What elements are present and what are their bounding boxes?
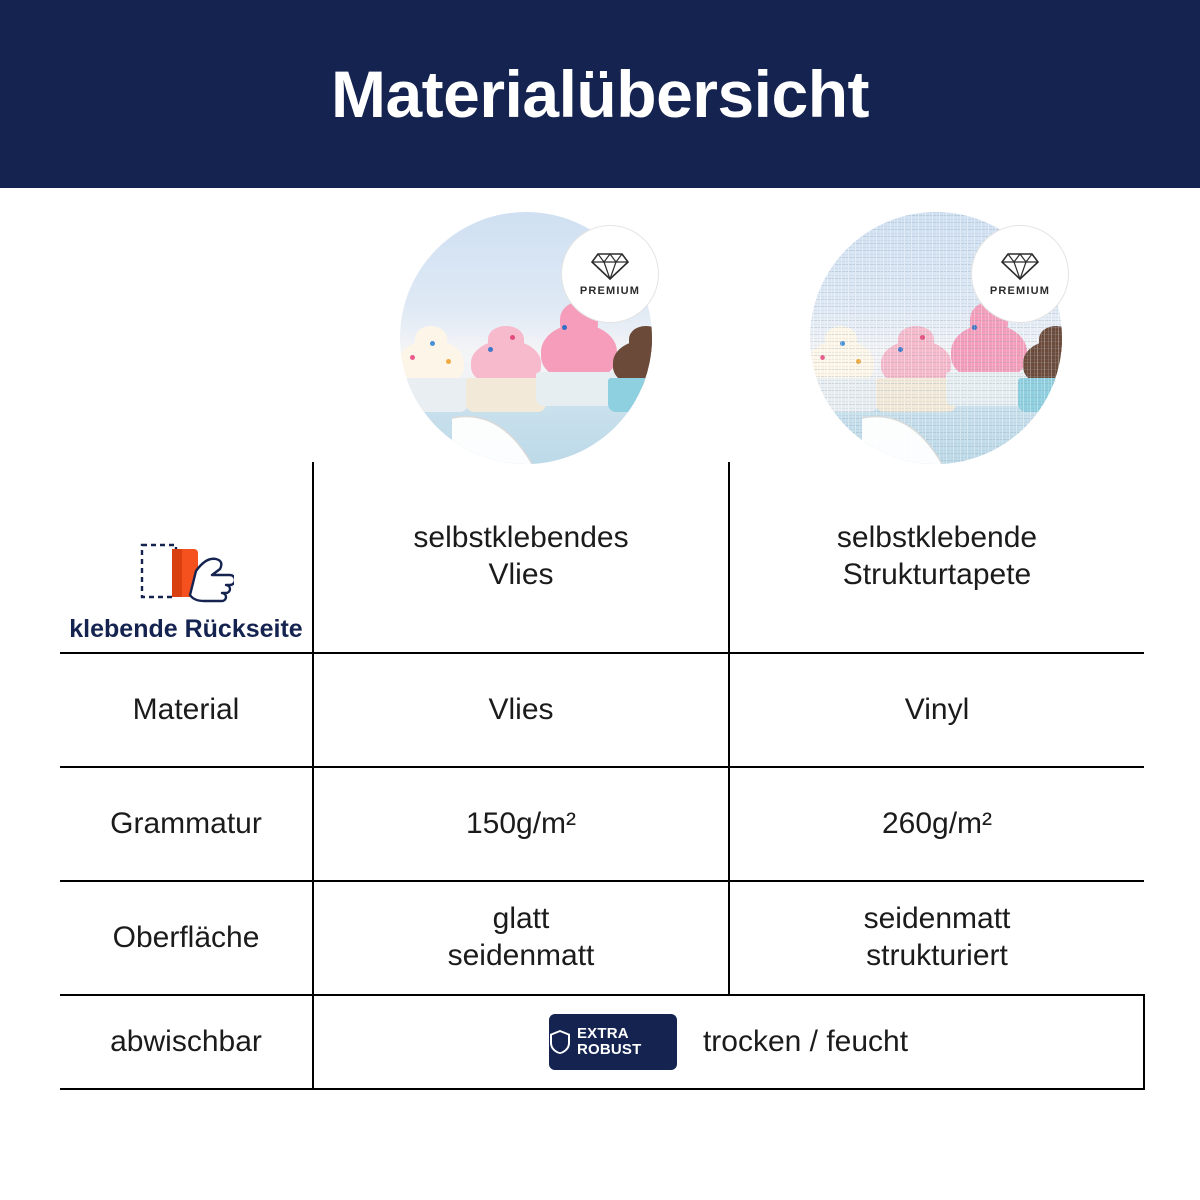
- table-row: Oberfläche glatt seidenmatt seidenmatt s…: [60, 881, 1144, 995]
- page-header: Materialübersicht: [0, 0, 1200, 188]
- diamond-icon: [1000, 251, 1040, 281]
- sample-images-row: PREMIUM: [0, 212, 1200, 462]
- premium-badge-label: PREMIUM: [990, 285, 1050, 297]
- cell-oberflaeche-vlies-line2: seidenmatt: [314, 938, 728, 975]
- table-row: Grammatur 150g/m² 260g/m²: [60, 767, 1144, 881]
- row-label-material: Material: [60, 653, 313, 767]
- row-label-oberflaeche: Oberfläche: [60, 881, 313, 995]
- premium-badge: PREMIUM: [972, 226, 1068, 322]
- column-header-strukturtapete: selbstklebende Strukturtapete: [729, 462, 1144, 653]
- cell-oberflaeche-vlies-line1: glatt: [314, 901, 728, 938]
- cell-oberflaeche-strukturtapete-line1: seidenmatt: [730, 901, 1144, 938]
- cell-oberflaeche-strukturtapete: seidenmatt strukturiert: [729, 881, 1144, 995]
- extra-robust-badge: EXTRA ROBUST: [549, 1014, 677, 1070]
- adhesive-back-label: klebende Rückseite: [69, 615, 302, 645]
- column-header-vlies-line2: Vlies: [314, 557, 728, 594]
- extra-robust-line2: ROBUST: [577, 1041, 642, 1058]
- cell-grammatur-vlies: 150g/m²: [313, 767, 729, 881]
- extra-robust-badge-text: EXTRA ROBUST: [577, 1026, 677, 1058]
- table-row: klebende Rückseite selbstklebendes Vlies…: [60, 462, 1144, 653]
- page-title: Materialübersicht: [331, 61, 869, 127]
- material-comparison-table: klebende Rückseite selbstklebendes Vlies…: [60, 462, 1140, 1090]
- cell-grammatur-strukturtapete: 260g/m²: [729, 767, 1144, 881]
- table-row: abwischbar EXTRA ROBUST: [60, 995, 1144, 1089]
- cell-abwischbar-value: EXTRA ROBUST trocken / feucht: [313, 995, 1144, 1089]
- adhesive-back-cell: klebende Rückseite: [60, 462, 313, 653]
- cell-oberflaeche-strukturtapete-line2: strukturiert: [730, 938, 1144, 975]
- adhesive-back-label-line1: klebende: [69, 615, 177, 643]
- diamond-icon: [590, 251, 630, 281]
- cell-oberflaeche-vlies: glatt seidenmatt: [313, 881, 729, 995]
- cell-material-strukturtapete: Vinyl: [729, 653, 1144, 767]
- adhesive-back-icon: [138, 541, 234, 605]
- column-header-vlies: selbstklebendes Vlies: [313, 462, 729, 653]
- premium-badge: PREMIUM: [562, 226, 658, 322]
- premium-badge-label: PREMIUM: [580, 285, 640, 297]
- column-header-strukturtapete-line1: selbstklebende: [730, 520, 1144, 557]
- adhesive-back-label-line2: Rückseite: [185, 615, 303, 643]
- material-overview-page: Materialübersicht: [0, 0, 1200, 1200]
- table-row: Material Vlies Vinyl: [60, 653, 1144, 767]
- row-label-abwischbar: abwischbar: [60, 995, 313, 1089]
- shield-icon: [549, 1029, 571, 1055]
- row-label-grammatur: Grammatur: [60, 767, 313, 881]
- cell-material-vlies: Vlies: [313, 653, 729, 767]
- column-header-vlies-line1: selbstklebendes: [314, 520, 728, 557]
- extra-robust-line1: EXTRA: [577, 1025, 628, 1042]
- column-header-strukturtapete-line2: Strukturtapete: [730, 557, 1144, 594]
- abwischbar-text: trocken / feucht: [703, 1024, 908, 1061]
